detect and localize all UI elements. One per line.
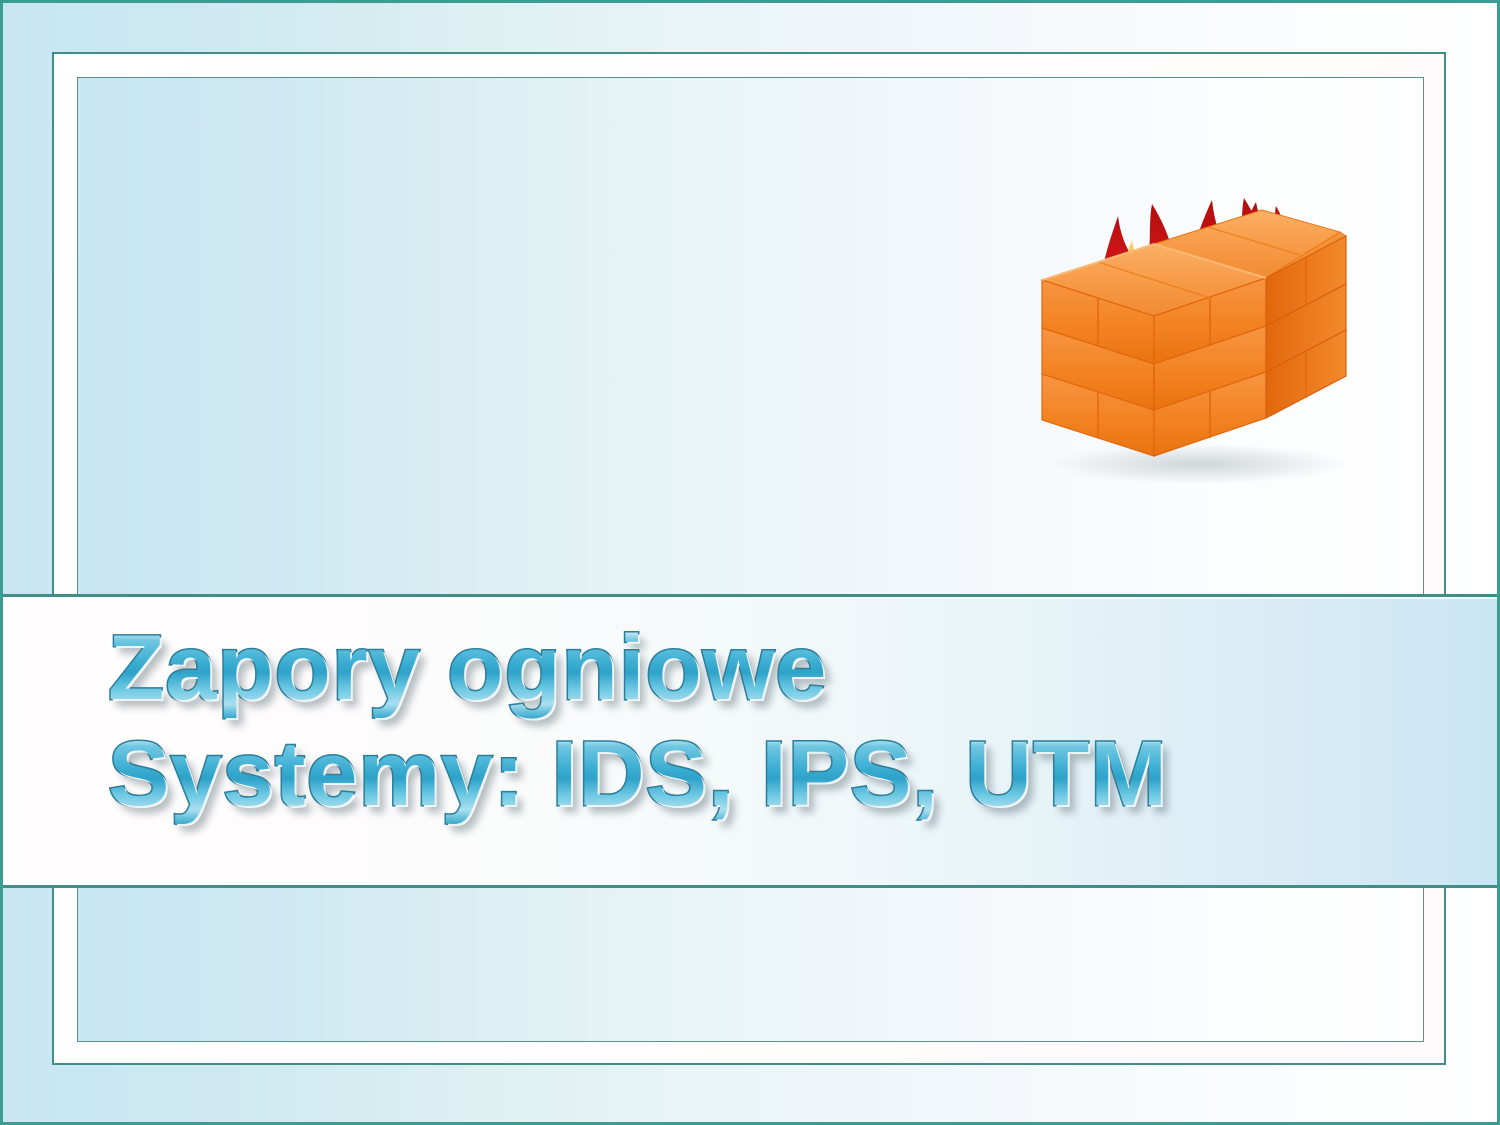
title-banner: Zapory ogniowe Zapory ogniowe Systemy: I… [0, 594, 1500, 888]
presentation-slide: Zapory ogniowe Zapory ogniowe Systemy: I… [0, 0, 1500, 1125]
title-line-2: Systemy: IDS, IPS, UTM [108, 721, 1438, 827]
brick-wall [1042, 210, 1346, 456]
title-line-2-wrap: Systemy: IDS, IPS, UTM Systemy: IDS, IPS… [108, 721, 1438, 827]
title-line-1: Zapory ogniowe [108, 615, 1438, 721]
title-line-1-wrap: Zapory ogniowe Zapory ogniowe [108, 615, 1438, 721]
title-block: Zapory ogniowe Zapory ogniowe Systemy: I… [108, 615, 1438, 827]
firewall-icon [1000, 112, 1380, 492]
